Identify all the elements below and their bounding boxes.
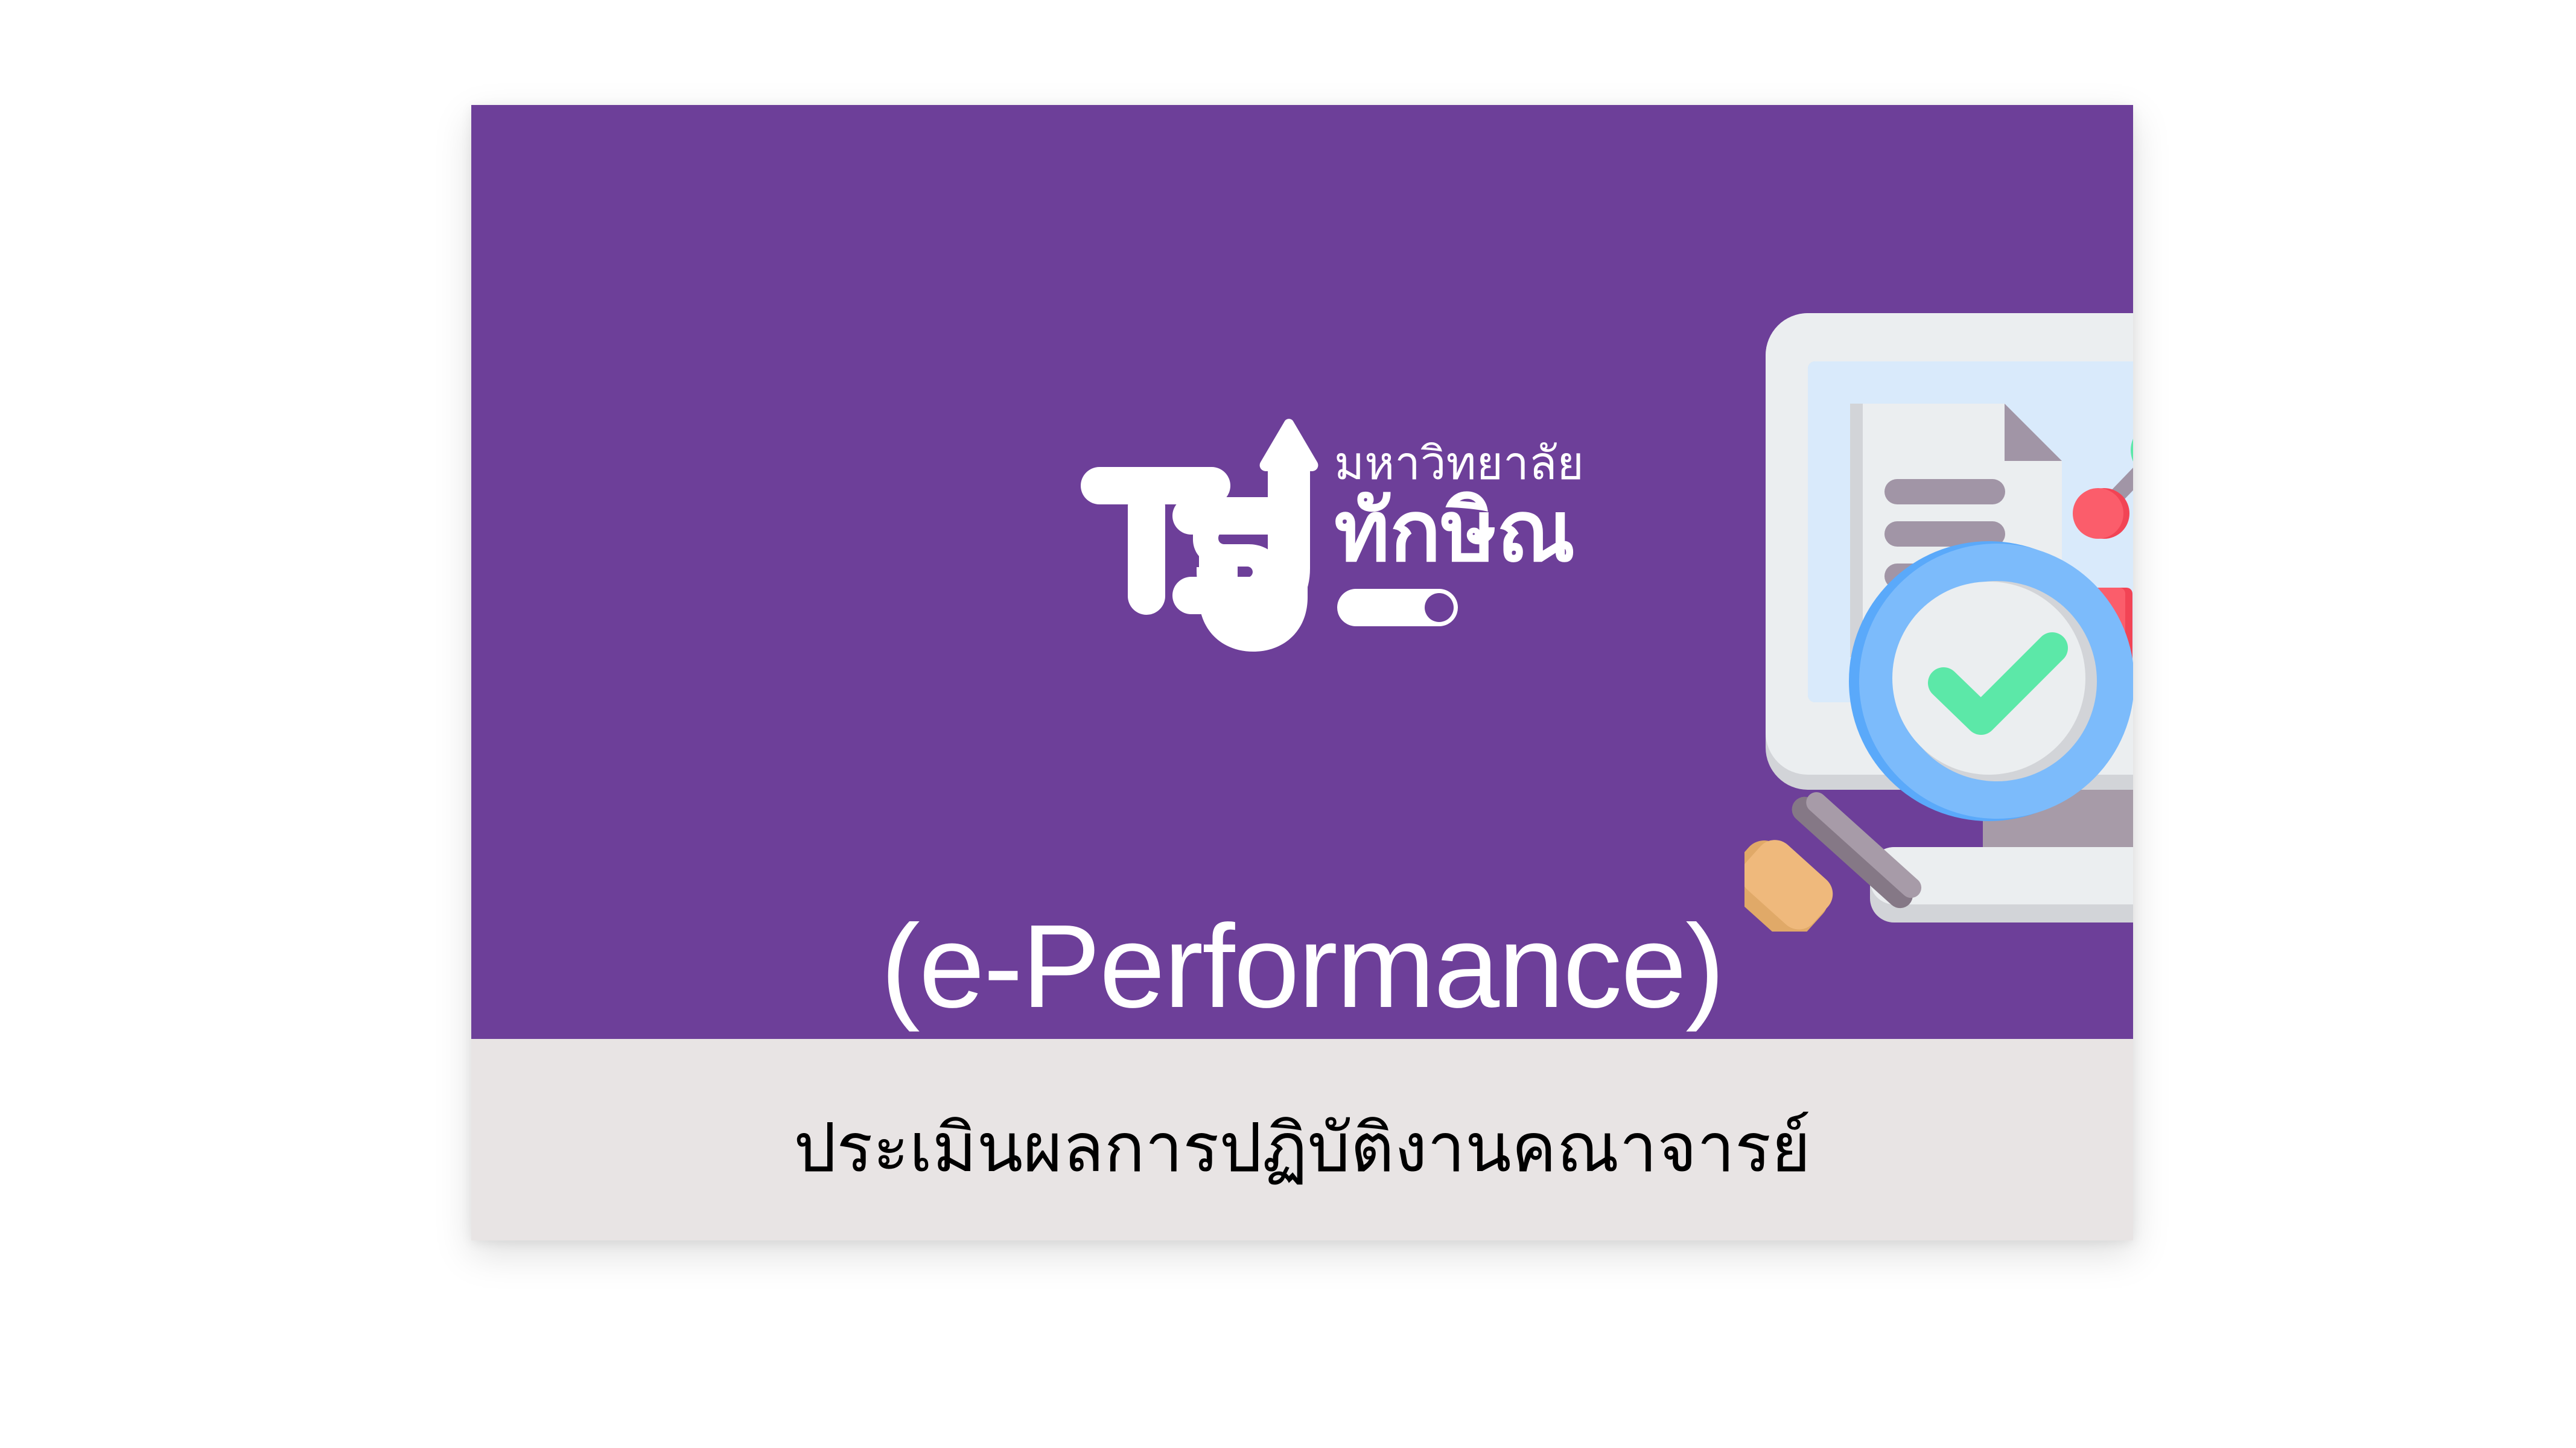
performance-monitor-illustration [1744, 286, 2133, 932]
card-header-panel: มหาวิทยาลัย ทักษิณ [471, 105, 2133, 1039]
logo-thai-line-1: มหาวิทยาลัย [1334, 438, 1584, 489]
tsu-logo: มหาวิทยาลัย ทักษิณ [1081, 419, 1648, 654]
footer-caption: ประเมินผลการปฏิบัติงานคณาจารย์ [793, 1114, 1810, 1182]
card-footer: ประเมินผลการปฏิบัติงานคณาจารย์ [471, 1039, 2133, 1240]
trend-marker [2073, 488, 2129, 539]
document-line [1884, 479, 2005, 504]
pill-badge-icon [1337, 589, 1458, 626]
logo-thai-line-2: ทักษิณ [1334, 484, 1575, 579]
program-card: มหาวิทยาลัย ทักษิณ [471, 105, 2133, 1240]
page-title: (e-Performance) [471, 907, 2133, 1026]
